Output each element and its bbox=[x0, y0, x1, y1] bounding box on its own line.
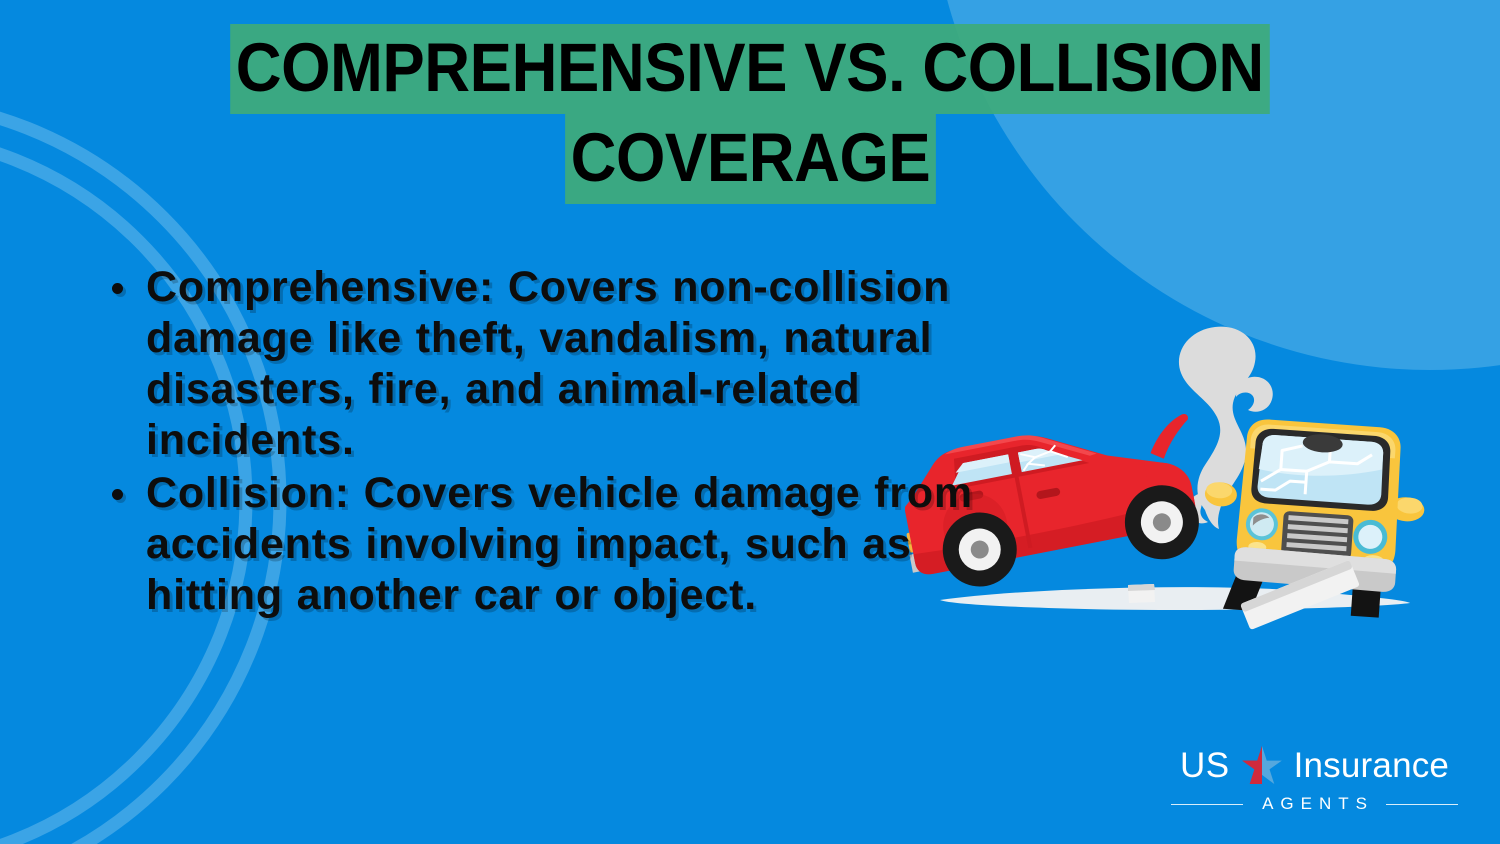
body-copy: Comprehensive: Covers non-collision dama… bbox=[100, 262, 980, 623]
logo-rule-right bbox=[1386, 804, 1458, 805]
logo-rule-left bbox=[1171, 804, 1243, 805]
list-item-text: Comprehensive: Covers non-collision dama… bbox=[146, 263, 950, 464]
list-item-text: Collision: Covers vehicle damage from ac… bbox=[146, 469, 973, 619]
logo-agents-text: AGENTS bbox=[1255, 794, 1374, 814]
page-title: COMPREHENSIVE VS. COLLISION COVERAGE bbox=[0, 24, 1500, 204]
bullet-list: Comprehensive: Covers non-collision dama… bbox=[100, 262, 980, 621]
title-line-2: COVERAGE bbox=[0, 114, 1500, 204]
car-crash-illustration bbox=[905, 325, 1425, 635]
logo-us-text: US bbox=[1180, 748, 1230, 783]
bullet-dot-icon bbox=[112, 283, 123, 294]
star-icon bbox=[1242, 746, 1282, 784]
bullet-dot-icon bbox=[112, 489, 123, 500]
logo-secondary-line: AGENTS bbox=[1171, 794, 1458, 814]
logo-primary-line: US Insurance bbox=[1171, 746, 1458, 784]
list-item: Collision: Covers vehicle damage from ac… bbox=[100, 468, 980, 621]
infographic-slide: COMPREHENSIVE VS. COLLISION COVERAGE Com… bbox=[0, 0, 1500, 844]
red-car-bent-hood-flap bbox=[1144, 413, 1195, 461]
title-line-2-text: COVERAGE bbox=[565, 114, 936, 204]
list-item: Comprehensive: Covers non-collision dama… bbox=[100, 262, 980, 466]
logo-insurance-text: Insurance bbox=[1294, 748, 1450, 783]
brand-logo: US Insurance AGENTS bbox=[1171, 746, 1458, 814]
title-line-1: COMPREHENSIVE VS. COLLISION bbox=[0, 24, 1500, 114]
debris-piece bbox=[1128, 584, 1155, 603]
title-line-1-text: COMPREHENSIVE VS. COLLISION bbox=[230, 24, 1269, 114]
